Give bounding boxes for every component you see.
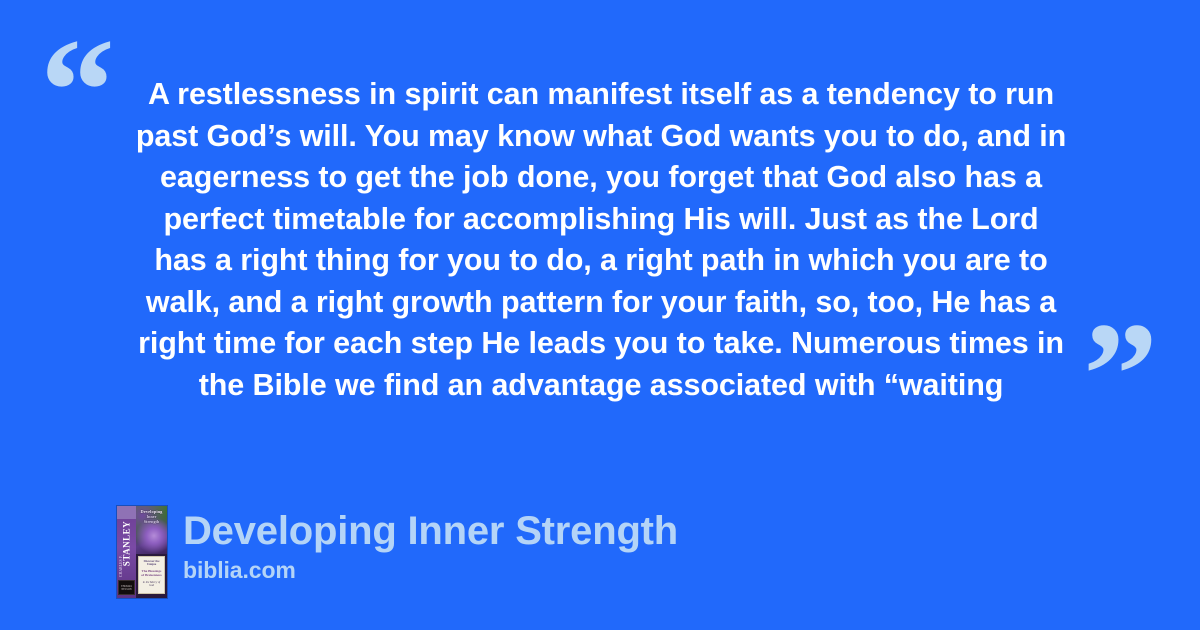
book-cover-title-line3: Strength	[137, 519, 166, 524]
quote-line: A restlessness in spirit can manifest it…	[108, 74, 1094, 116]
quote-line: has a right thing for you to do, a right…	[108, 240, 1094, 282]
book-spine-publisher: THOMAS NELSON	[119, 585, 134, 591]
book-spine-publisher-block: THOMAS NELSON	[118, 580, 135, 595]
attribution-footer: CHARLES F. STANLEY THOMAS NELSON Develop…	[117, 506, 678, 598]
close-quote-icon: ”	[1083, 300, 1158, 450]
open-quote-icon: “	[40, 16, 115, 166]
quote-line: eagerness to get the job done, you forge…	[108, 157, 1094, 199]
book-cover-text-panel: Discover the Unique The Blessings of Bro…	[138, 556, 165, 594]
quote-line: walk, and a right growth pattern for you…	[108, 282, 1094, 324]
book-front-panel: Developing Inner Strength Discover the U…	[136, 506, 167, 598]
book-cover-panel-head: Discover the Unique	[141, 560, 162, 567]
book-cover-panel-foot: in the Mercy of God	[141, 581, 162, 588]
book-cover-panel-body: The Blessings of Brokenness	[141, 569, 162, 578]
quote-text-block: A restlessness in spirit can manifest it…	[108, 74, 1094, 406]
book-cover-thumbnail: CHARLES F. STANLEY THOMAS NELSON Develop…	[117, 506, 167, 598]
quote-card: “ ” A restlessness in spirit can manifes…	[0, 0, 1200, 630]
quote-line: right time for each step He leads you to…	[108, 323, 1094, 365]
book-cover-artwork: Developing Inner Strength	[136, 506, 167, 554]
quote-line: the Bible we find an advantage associate…	[108, 365, 1094, 407]
attribution-text: Developing Inner Strength biblia.com	[183, 506, 678, 584]
book-cover-title-art: Developing Inner Strength	[137, 509, 166, 524]
book-spine-author: STANLEY	[123, 510, 132, 578]
book-spine: CHARLES F. STANLEY THOMAS NELSON	[117, 506, 136, 598]
site-name[interactable]: biblia.com	[183, 556, 678, 584]
quote-line: perfect timetable for accomplishing His …	[108, 199, 1094, 241]
book-title: Developing Inner Strength	[183, 508, 678, 554]
quote-line: past God’s will. You may know what God w…	[108, 116, 1094, 158]
